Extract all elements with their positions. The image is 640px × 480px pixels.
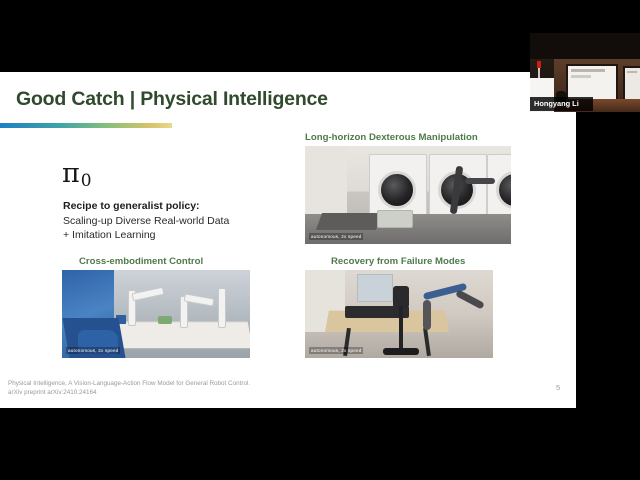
pi-glyph: π [62,158,80,189]
video-overlay-label: autonomous, 2x speed [66,347,120,354]
page-title: Good Catch | Physical Intelligence [16,88,328,111]
projection-screen-secondary [623,66,640,101]
caption-long-horizon: Long-horizon Dexterous Manipulation [305,132,478,143]
caption-recovery: Recovery from Failure Modes [331,256,465,267]
participant-name-label: Hongyang Li [534,99,579,108]
rf-window [357,274,393,302]
recipe-line-1: Scaling-up Diverse Real-world Data [63,215,229,227]
rf-robot-base [383,348,419,355]
pi-zero-symbol: π0 [62,160,91,187]
robot-arm [423,300,431,330]
video-cross-embodiment[interactable]: autonomous, 2x speed [62,270,250,358]
citation-line-1: Physical Intelligence, A Vision-Language… [8,380,250,387]
title-gradient-rule [0,123,172,128]
washing-machine [369,154,427,216]
robot-arm-segment [465,178,495,184]
rf-camera-head [393,286,409,308]
recipe-heading: Recipe to generalist policy: [63,200,200,212]
robot-arm-segment [184,293,215,306]
video-overlay-label: autonomous, 2x speed [309,233,363,240]
robot-arm-segment [132,287,165,301]
citation-line-2: arXiv preprint arXiv:2410.24164 [8,389,97,396]
caption-cross-embodiment: Cross-embodiment Control [79,256,203,267]
robot-arm [218,288,226,328]
video-long-horizon[interactable]: autonomous, 2x speed [305,146,511,244]
lecture-room-ceiling [530,33,640,59]
manipulated-object [158,316,172,324]
webcam-overlay[interactable]: Hongyang Li [530,33,640,112]
lh-floor-mat [316,213,382,230]
slide-page-number: 5 [556,383,560,392]
rf-camera-pole [399,306,403,350]
laundry-basket [377,210,413,228]
video-recovery[interactable]: autonomous, 2x speed [305,270,493,358]
pi-subscript: 0 [81,171,92,191]
washing-machine [487,154,511,216]
video-overlay-label: autonomous, 2x speed [309,347,363,354]
presentation-slide: Good Catch | Physical Intelligence π0 Re… [0,72,576,408]
robot-arm-segment [455,289,485,309]
screen-recording-stage: Good Catch | Physical Intelligence π0 Re… [0,0,640,480]
fire-alarm-icon [537,61,541,68]
recipe-line-2: + Imitation Learning [63,229,156,241]
